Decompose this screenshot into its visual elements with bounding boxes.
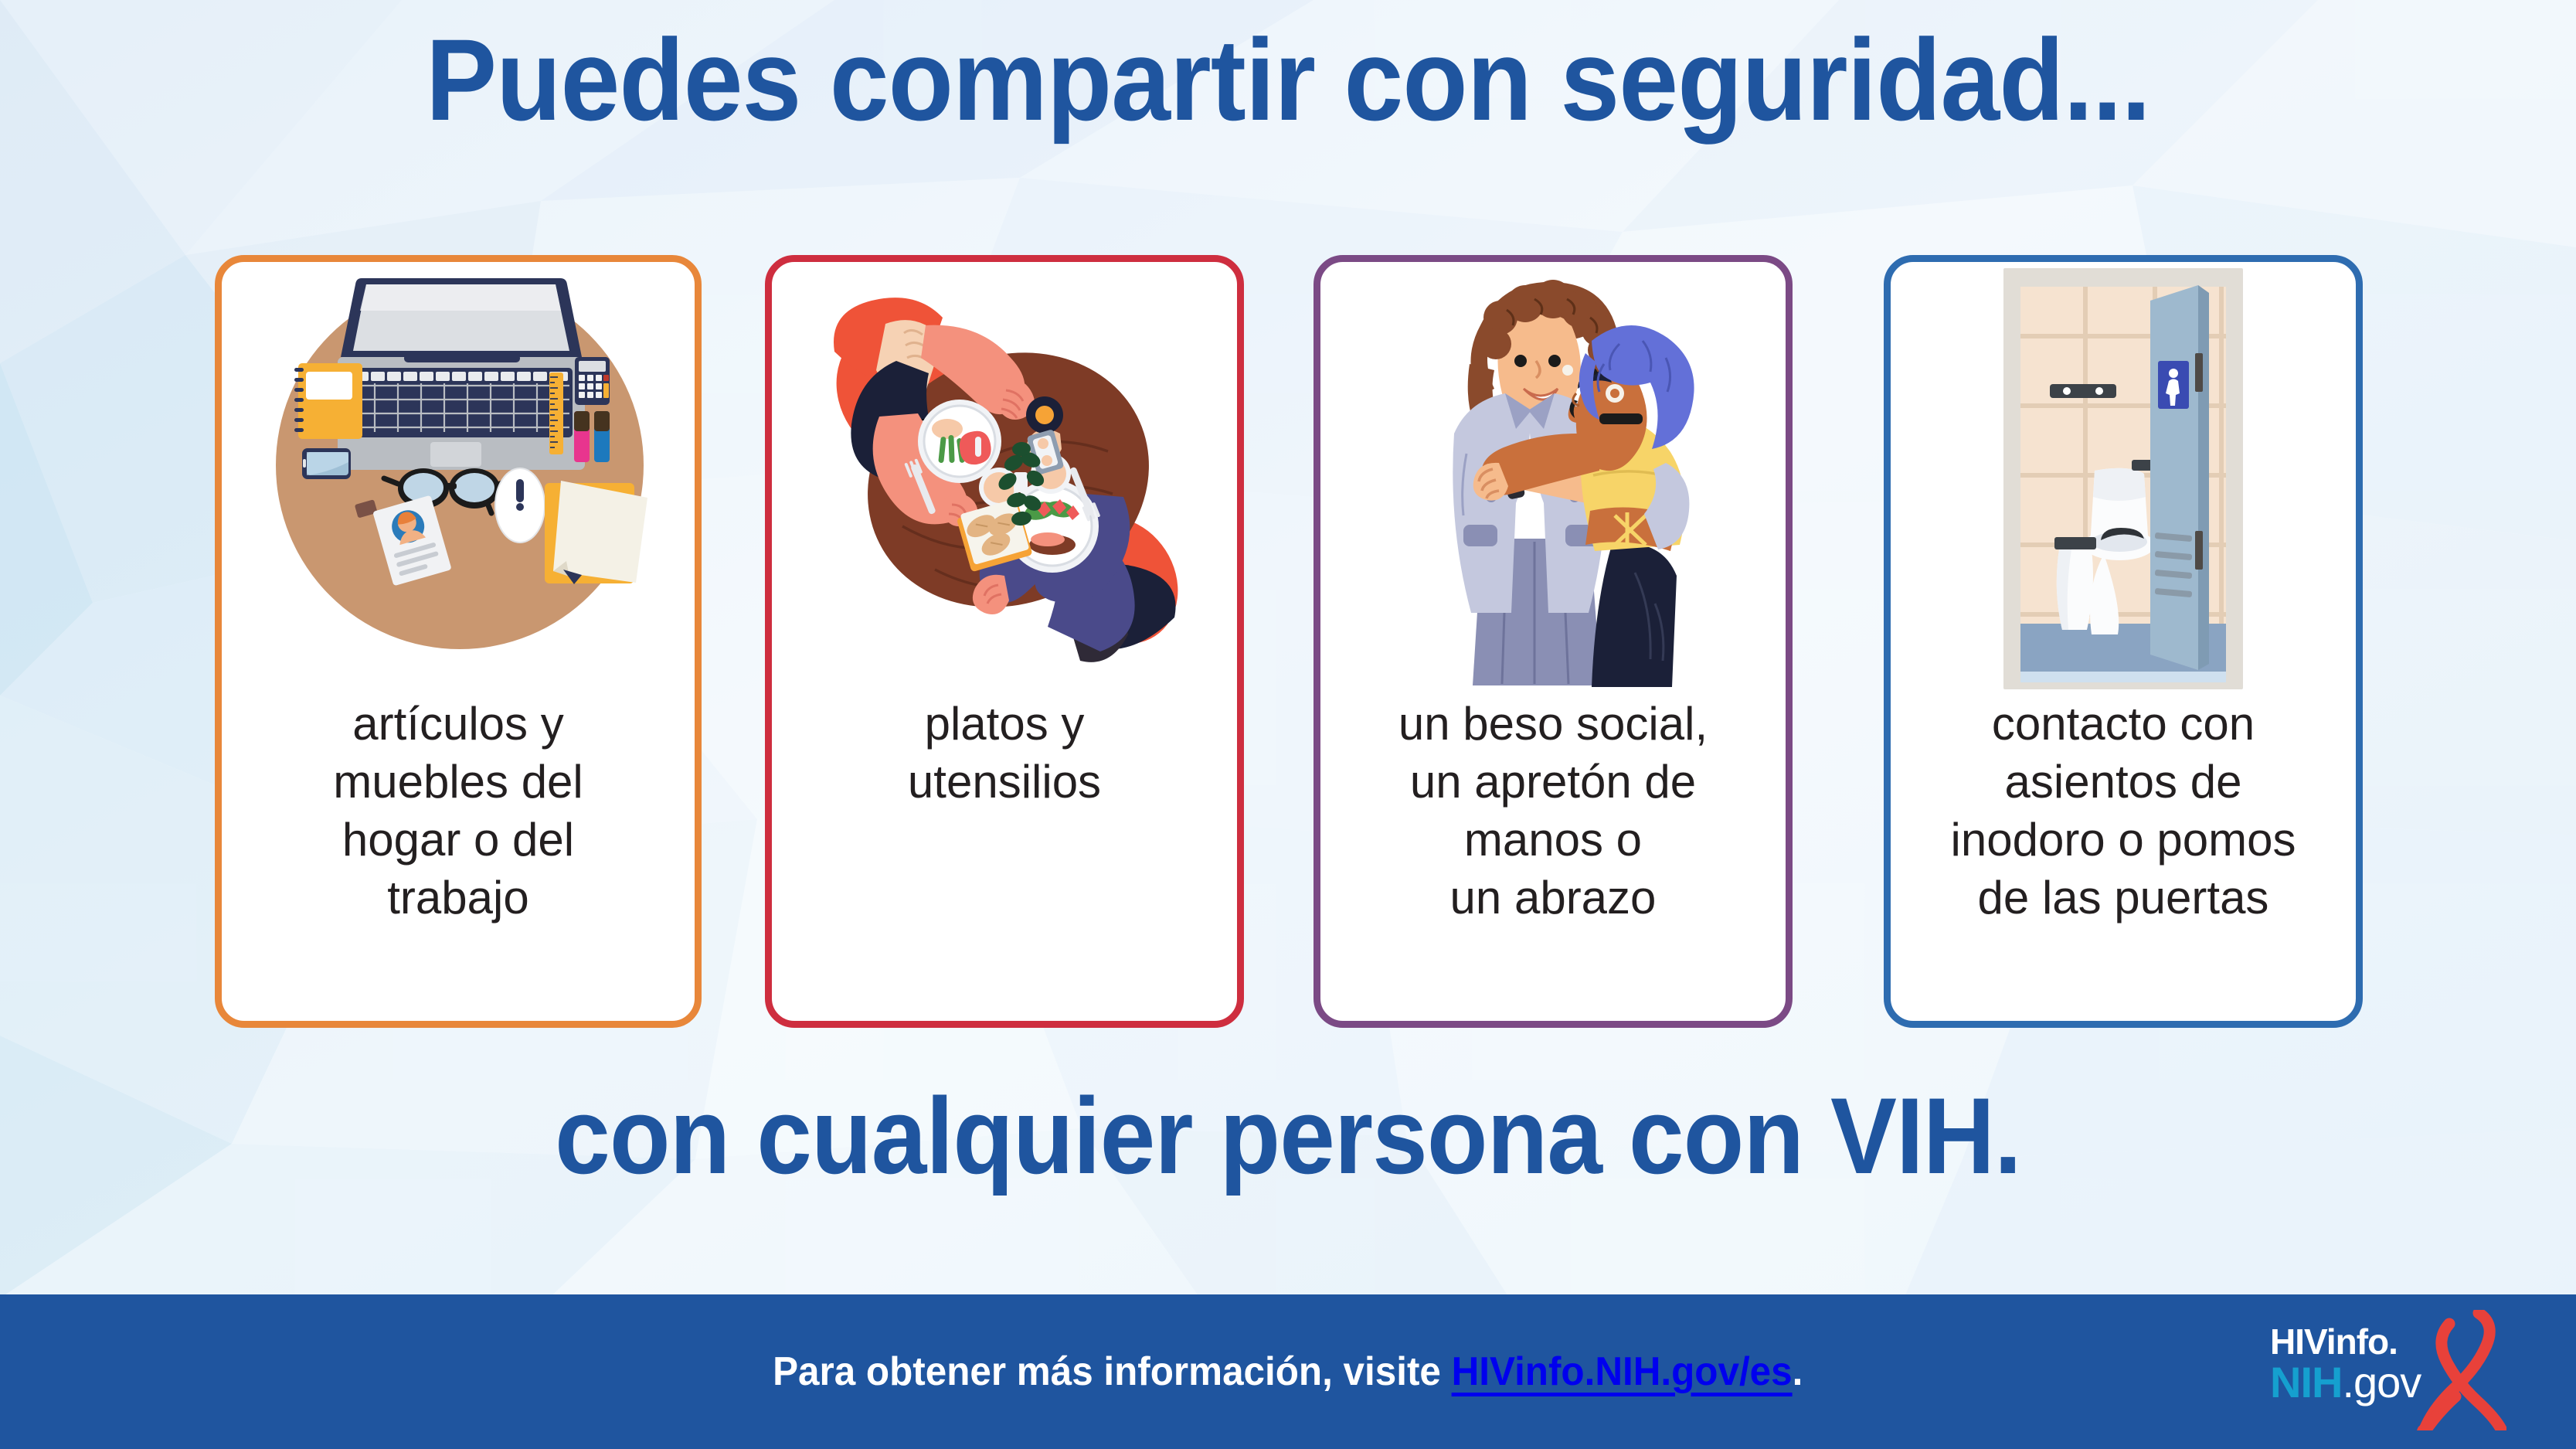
card-row: artículos y muebles del hogar o del trab… (0, 255, 2576, 1036)
card-caption: un beso social, un apretón de manos o un… (1388, 695, 1718, 927)
logo-wordmark: HIVinfo. NIH.gov (2270, 1324, 2421, 1404)
desk-workspace-illustration (222, 262, 695, 695)
logo-nih-text: NIH (2270, 1358, 2342, 1406)
footer-text-prefix: Para obtener más información, visite (773, 1349, 1452, 1394)
card-caption: artículos y muebles del hogar o del trab… (322, 695, 594, 927)
logo-line-nih-gov: NIH.gov (2270, 1361, 2421, 1404)
card-caption: platos y utensilios (897, 695, 1112, 811)
footer-bar: Para obtener más información, visite HIV… (0, 1294, 2576, 1449)
dining-table-illustration (772, 262, 1237, 695)
aids-ribbon-icon (2404, 1310, 2506, 1430)
card-dishes-utensils: platos y utensilios (765, 255, 1244, 1028)
card-toilet-seats-doorknobs: contacto con asientos de inodoro o pomos… (1884, 255, 2363, 1028)
two-women-hugging-illustration (1320, 262, 1786, 695)
hivinfo-nih-gov-logo[interactable]: HIVinfo. NIH.gov (2270, 1319, 2502, 1424)
hivinfo-link[interactable]: HIVinfo.NIH.gov/es (1452, 1349, 1793, 1394)
card-social-kiss-handshake-hug: un beso social, un apretón de manos o un… (1313, 255, 1793, 1028)
footer-text-suffix: . (1793, 1349, 1803, 1394)
logo-line-hivinfo: HIVinfo. (2270, 1324, 2421, 1359)
page-title-bottom: con cualquier persona con VIH. (103, 1082, 2472, 1190)
card-household-work-items: artículos y muebles del hogar o del trab… (215, 255, 702, 1028)
page-title-top: Puedes compartir con seguridad... (103, 22, 2472, 138)
card-caption: contacto con asientos de inodoro o pomos… (1940, 695, 2307, 927)
restroom-stall-illustration (1891, 262, 2356, 695)
footer-info-line: Para obtener más información, visite HIV… (0, 1294, 2576, 1449)
